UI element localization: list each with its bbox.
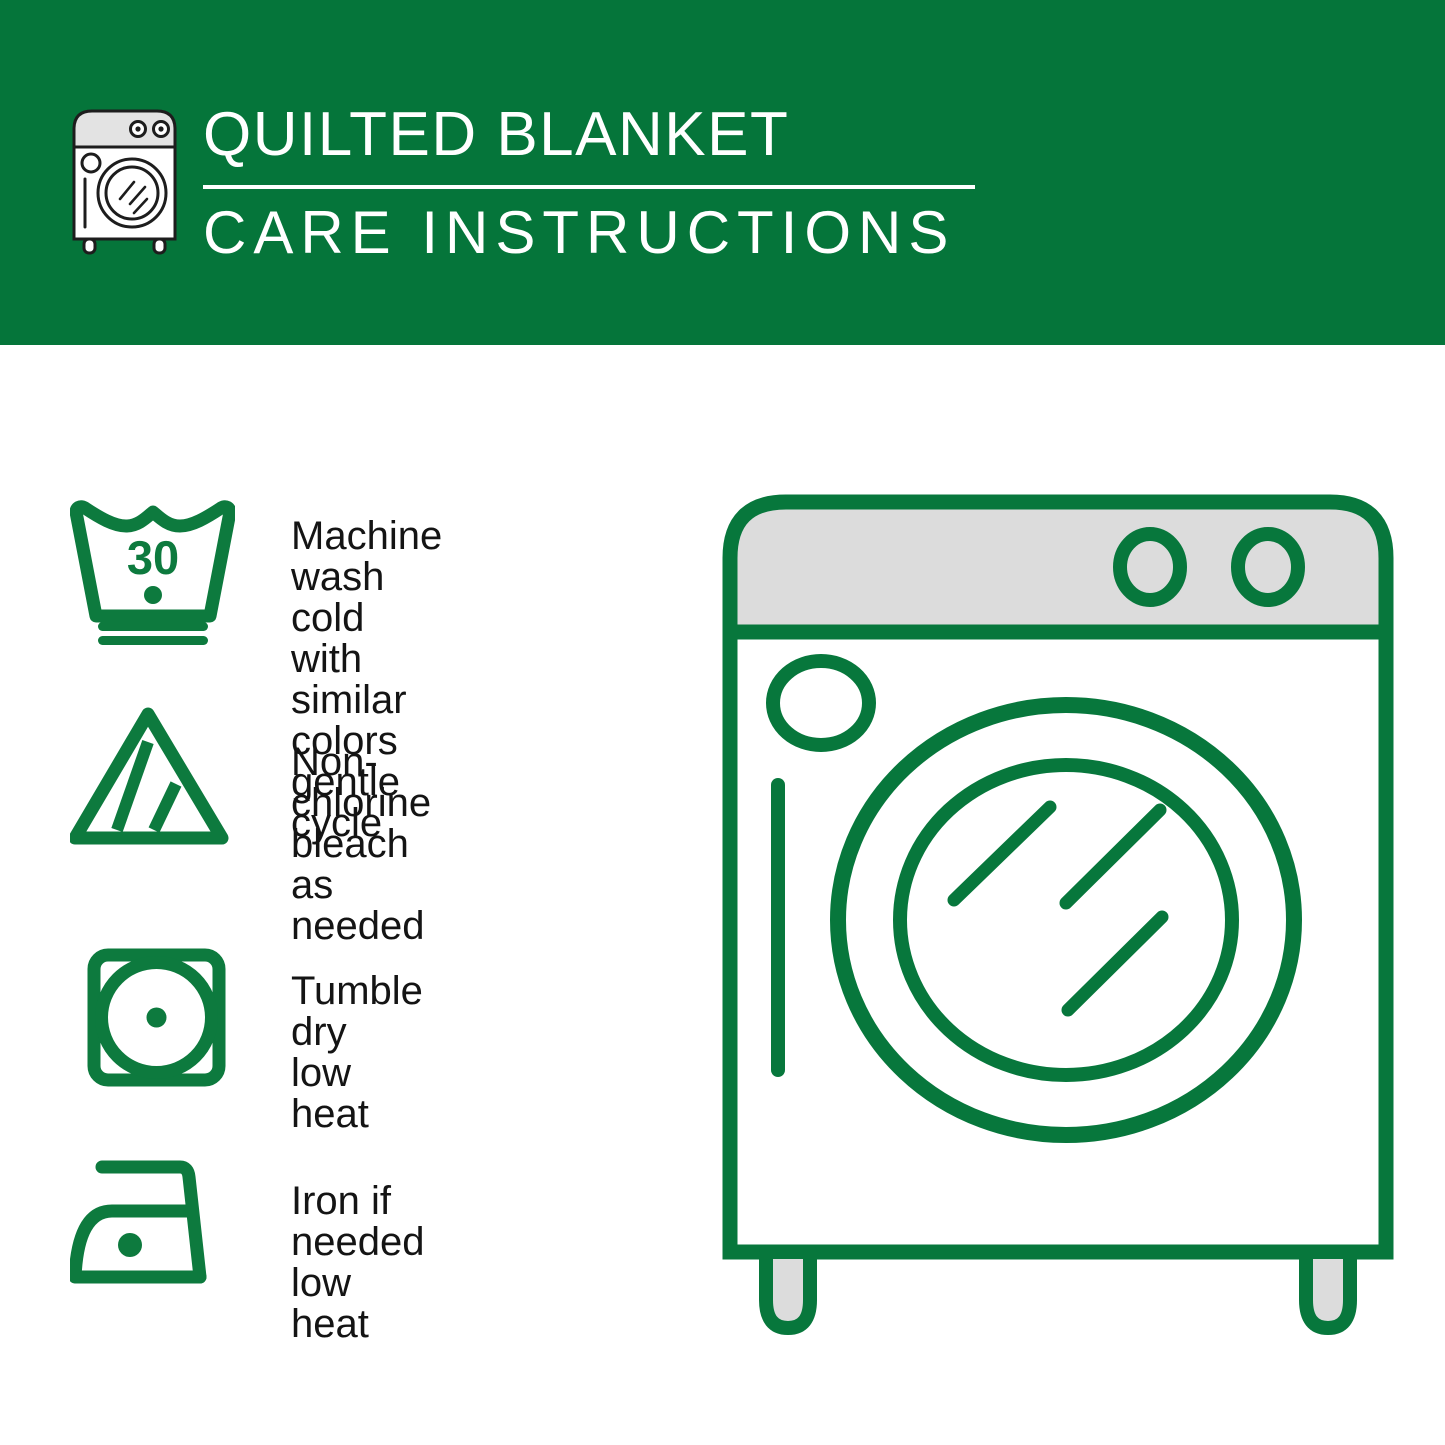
page-subtitle: CARE INSTRUCTIONS xyxy=(203,198,955,268)
page-title: QUILTED BLANKET xyxy=(203,100,993,170)
care-label-dry: Tumble dry low heat xyxy=(291,971,423,1135)
care-label-bleach: Non-chlorine bleach as needed xyxy=(291,742,431,947)
washing-machine-icon xyxy=(62,103,187,255)
wash-tub-30-icon: 30 xyxy=(70,500,235,650)
front-load-washing-machine-illustration xyxy=(718,480,1398,1360)
wash-temperature-label: 30 xyxy=(127,531,179,584)
header-divider xyxy=(203,185,975,189)
care-label-iron: Iron if needed low heat xyxy=(291,1181,424,1345)
header-text-block: QUILTED BLANKET CARE INSTRUCTIONS xyxy=(203,100,993,260)
header-band: QUILTED BLANKET CARE INSTRUCTIONS xyxy=(0,0,1445,345)
non-chlorine-bleach-triangle-icon xyxy=(70,706,235,856)
iron-low-heat-icon xyxy=(70,1155,240,1295)
tumble-dry-low-heat-icon xyxy=(70,945,235,1095)
care-instructions-page: QUILTED BLANKET CARE INSTRUCTIONS 30 Mac… xyxy=(0,0,1445,1445)
